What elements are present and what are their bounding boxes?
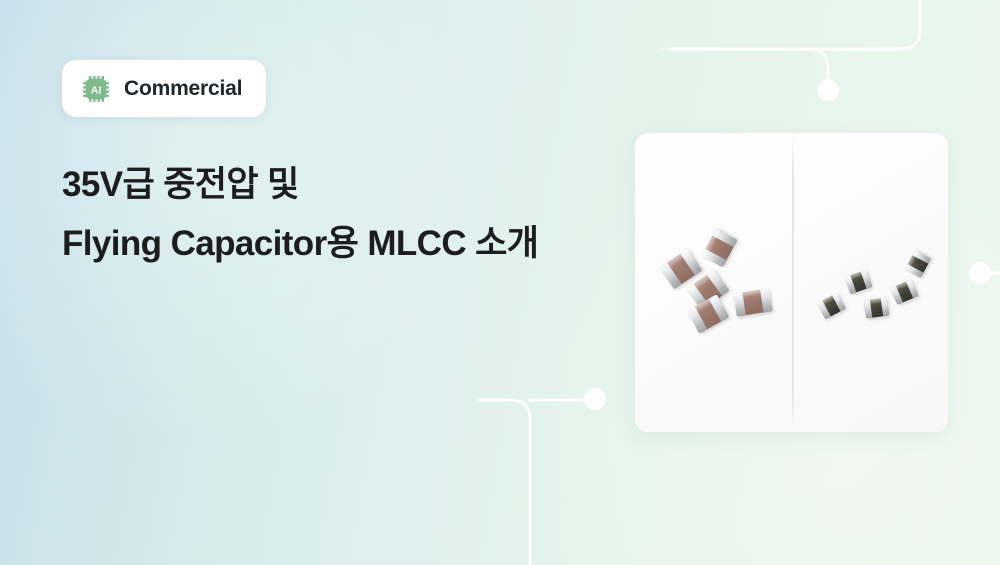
commercial-badge-label: Commercial [124,77,242,101]
commercial-badge[interactable]: AI Commercial [62,60,266,117]
trace-node-top [817,79,839,101]
trace-node-right [969,262,991,284]
slide-canvas: AI Commercial 35V급 중전압 및 Flying Capacito… [0,0,1000,565]
page-title: 35V급 중전압 및 Flying Capacitor용 MLCC 소개 [62,155,622,273]
trace-top-right [732,0,920,49]
mlcc-product-photo-card[interactable] [635,133,948,432]
ai-chip-icon-text: AI [91,84,102,96]
ai-chip-icon: AI [82,75,110,103]
trace-node-bottom-left [584,388,606,410]
dark-mlcc-chip [864,297,889,318]
photo-panel-divider [792,137,794,428]
trace-top-node-stem [672,49,828,84]
page-title-line-1: 35V급 중전압 및 [62,155,622,214]
trace-bottom-corner [478,400,530,565]
page-title-line-2: Flying Capacitor용 MLCC 소개 [62,214,622,273]
